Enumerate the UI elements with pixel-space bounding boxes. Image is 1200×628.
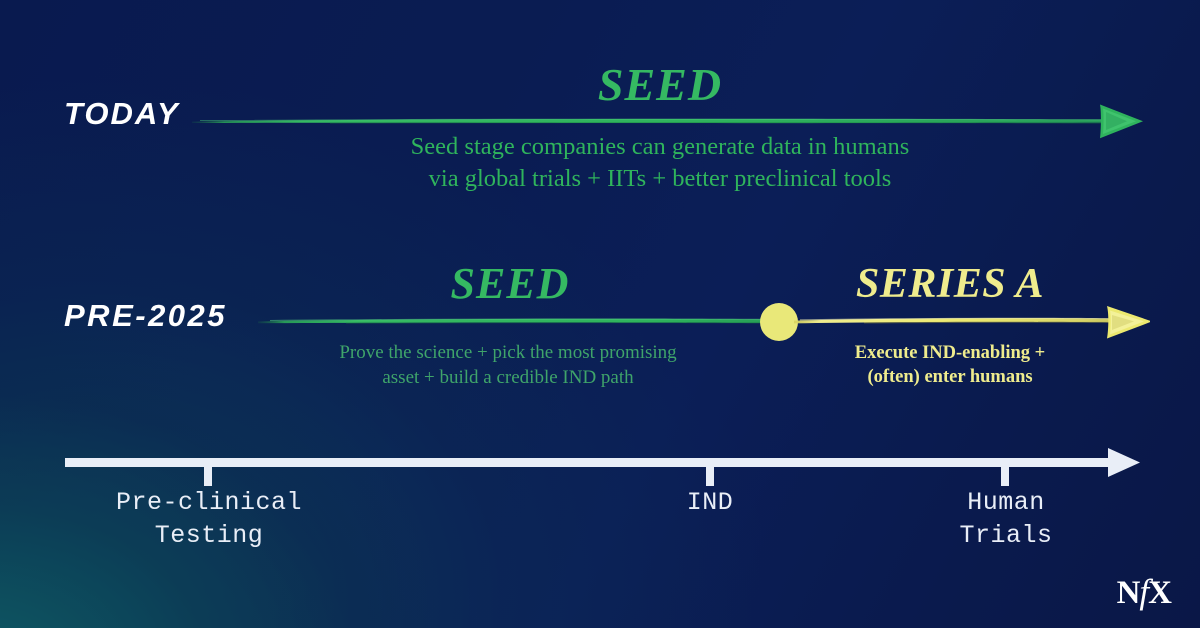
infographic-canvas: TODAY SEED Seed stage companies can gene… [0, 0, 1200, 628]
axis-label-ind: IND [610, 486, 810, 519]
timeline-axis [0, 440, 1200, 490]
nfx-logo: NfX [1117, 574, 1172, 610]
nfx-logo-n: N [1117, 575, 1141, 611]
phase-heading-seed-pre-2025: SEED [410, 262, 610, 306]
axis-tick-human-trials [1001, 462, 1009, 486]
phase-heading-seed-today: SEED [560, 62, 760, 108]
phase-description-series-a: Execute IND-enabling + (often) enter hum… [800, 341, 1100, 389]
axis-label-preclinical-testing: Pre-clinical Testing [98, 486, 320, 552]
pre-2025-series-a-segment [794, 303, 1150, 343]
stage-label-pre-2025: PRE-2025 [64, 300, 227, 331]
axis-tick-ind [706, 462, 714, 486]
axis-tick-preclinical [204, 462, 212, 486]
axis-label-human-trials: Human Trials [905, 486, 1107, 552]
pre-2025-seed-segment [256, 305, 786, 341]
phase-heading-series-a: SERIES A [850, 263, 1050, 305]
nfx-logo-x: X [1148, 575, 1172, 611]
phase-description-seed-pre-2025: Prove the science + pick the most promis… [256, 341, 760, 390]
ind-transition-dot [760, 303, 798, 341]
phase-description-seed-today: Seed stage companies can generate data i… [310, 131, 1010, 195]
stage-label-today: TODAY [64, 98, 180, 129]
